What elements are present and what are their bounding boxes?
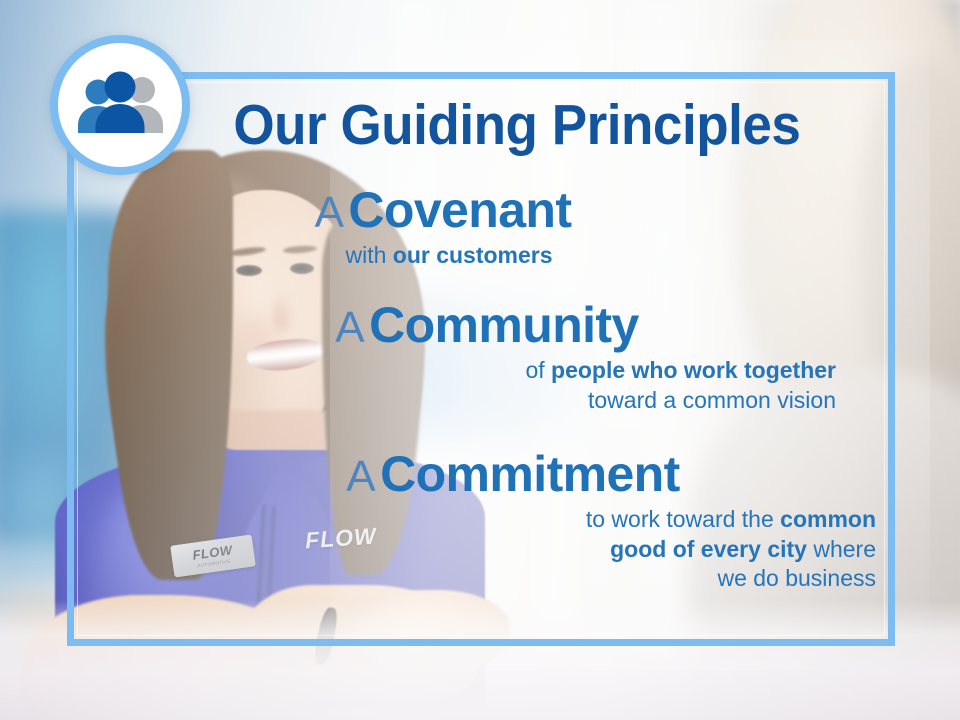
subtext-emphasis: common bbox=[780, 506, 876, 532]
principle-covenant-article: A bbox=[315, 188, 344, 237]
principle-commitment: A Commitment to work toward the commongo… bbox=[150, 449, 876, 593]
subtext-line: we do business bbox=[150, 564, 876, 593]
subtext-emphasis: people who work together bbox=[551, 357, 836, 383]
principle-covenant-word: Covenant bbox=[348, 182, 571, 238]
principle-covenant: A Covenant with our customers bbox=[150, 185, 876, 270]
principle-commitment-article: A bbox=[346, 452, 375, 501]
principle-covenant-subtext: with our customers bbox=[150, 241, 876, 270]
people-group-badge bbox=[50, 35, 190, 175]
principle-community-article: A bbox=[335, 303, 364, 352]
subtext-plain: to work toward the bbox=[586, 506, 780, 532]
subtext-plain: toward a common vision bbox=[588, 387, 836, 413]
principle-commitment-heading: A Commitment bbox=[150, 449, 876, 500]
subtext-emphasis: good of every city bbox=[610, 536, 807, 562]
principle-covenant-heading: A Covenant bbox=[150, 185, 876, 236]
guiding-principles-graphic: FLOW FLOW AUTOMOTIVE Our bbox=[0, 0, 960, 720]
principle-commitment-subtext: to work toward the commongood of every c… bbox=[150, 505, 876, 593]
page-title: Our Guiding Principles bbox=[210, 97, 824, 154]
subtext-emphasis: our customers bbox=[393, 242, 553, 268]
subtext-line: with our customers bbox=[150, 241, 748, 270]
principle-community-subtext: of people who work togethertoward a comm… bbox=[150, 356, 876, 415]
principles-list: A Covenant with our customers A Communit… bbox=[150, 185, 876, 610]
subtext-line: of people who work together bbox=[150, 356, 836, 385]
subtext-line: toward a common vision bbox=[150, 386, 836, 415]
principle-community: A Community of people who work togethert… bbox=[150, 300, 876, 415]
subtext-plain: where bbox=[807, 536, 876, 562]
subtext-plain: with bbox=[345, 242, 392, 268]
subtext-line: to work toward the common bbox=[150, 505, 876, 534]
principle-commitment-word: Commitment bbox=[380, 446, 680, 502]
subtext-plain: we do business bbox=[717, 565, 876, 591]
subtext-plain: of bbox=[525, 357, 551, 383]
principle-community-heading: A Community bbox=[150, 300, 876, 351]
people-group-icon bbox=[74, 71, 166, 139]
subtext-line: good of every city where bbox=[150, 535, 876, 564]
principle-community-word: Community bbox=[369, 297, 639, 353]
